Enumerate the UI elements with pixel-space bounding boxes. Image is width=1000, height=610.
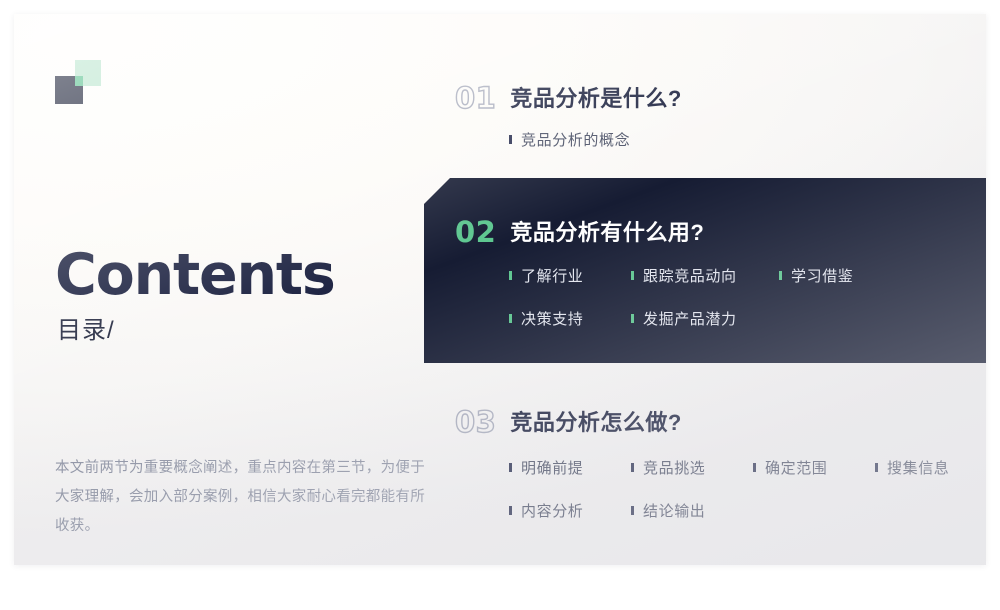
section-03-header: 03 竞品分析怎么做? — [455, 408, 986, 437]
list-item-label: 跟踪竞品动向 — [643, 265, 737, 286]
list-item[interactable]: 了解行业 — [509, 265, 631, 286]
list-item-label: 了解行业 — [521, 265, 583, 286]
list-item[interactable]: 学习借鉴 — [779, 265, 901, 286]
list-item[interactable]: 竞品挑选 — [631, 457, 753, 478]
section-02-bullets: 了解行业 跟踪竞品动向 学习借鉴 — [455, 265, 986, 351]
bullet-marker-icon — [631, 506, 634, 515]
bullet-marker-icon — [509, 314, 512, 323]
section-02-title: 竞品分析有什么用? — [510, 222, 704, 244]
list-item-label: 确定范围 — [765, 457, 827, 478]
slide: Contents 目录/ 本文前两节为重要概念阐述，重点内容在第三节，为便于大家… — [14, 14, 986, 565]
list-item-label: 内容分析 — [521, 500, 583, 521]
slide-canvas: Contents 目录/ 本文前两节为重要概念阐述，重点内容在第三节，为便于大家… — [0, 0, 1000, 610]
bullet-marker-icon — [631, 271, 634, 280]
list-item[interactable]: 发掘产品潜力 — [631, 308, 779, 329]
section-01-header: 01 竞品分析是什么? — [455, 84, 986, 113]
list-item-label: 发掘产品潜力 — [643, 308, 737, 329]
bullet-marker-icon — [509, 135, 512, 144]
list-item[interactable]: 搜集信息 — [875, 457, 986, 478]
bullet-marker-icon — [753, 463, 756, 472]
list-item-label: 竞品分析的概念 — [521, 129, 630, 150]
sections-list: 01 竞品分析是什么? 竞品分析的概念 02 竞品分析有什么用? — [410, 14, 986, 565]
page-subtitle: 目录/ — [57, 314, 425, 348]
list-item-label: 明确前提 — [521, 457, 583, 478]
bullet-marker-icon — [509, 506, 512, 515]
section-02-content: 02 竞品分析有什么用? 了解行业 跟踪竞品动向 — [455, 218, 986, 351]
list-item-label: 决策支持 — [521, 308, 583, 329]
bullet-marker-icon — [631, 314, 634, 323]
list-item[interactable]: 确定范围 — [753, 457, 875, 478]
list-item[interactable]: 结论输出 — [631, 500, 753, 521]
section-03-title: 竞品分析怎么做? — [510, 412, 681, 434]
section-01[interactable]: 01 竞品分析是什么? 竞品分析的概念 — [410, 84, 986, 150]
bullet-marker-icon — [631, 463, 634, 472]
section-02-number: 02 — [455, 218, 496, 247]
bullet-marker-icon — [509, 271, 512, 280]
list-item[interactable]: 决策支持 — [509, 308, 631, 329]
list-item-label: 竞品挑选 — [643, 457, 705, 478]
section-02-header: 02 竞品分析有什么用? — [455, 218, 986, 247]
section-03-bullets: 明确前提 竞品挑选 确定范围 搜集信息 — [455, 457, 986, 543]
brand-logo — [55, 60, 103, 104]
list-item[interactable]: 明确前提 — [509, 457, 631, 478]
list-item-label: 结论输出 — [643, 500, 705, 521]
lead-paragraph: 本文前两节为重要概念阐述，重点内容在第三节，为便于大家理解，会加入部分案例，相信… — [55, 454, 430, 541]
page-title: Contents — [55, 246, 425, 306]
section-01-number: 01 — [455, 84, 496, 113]
list-item[interactable]: 跟踪竞品动向 — [631, 265, 779, 286]
section-02-card[interactable]: 02 竞品分析有什么用? 了解行业 跟踪竞品动向 — [424, 178, 986, 363]
list-item-label: 搜集信息 — [887, 457, 949, 478]
section-03[interactable]: 03 竞品分析怎么做? 明确前提 竞品挑选 确定范围 — [410, 408, 986, 543]
logo-square-overlap — [75, 76, 83, 86]
section-03-number: 03 — [455, 408, 496, 437]
bullet-marker-icon — [875, 463, 878, 472]
bullet-marker-icon — [509, 463, 512, 472]
list-item-label: 学习借鉴 — [791, 265, 853, 286]
list-item[interactable]: 竞品分析的概念 — [509, 129, 630, 150]
title-block: Contents 目录/ — [55, 246, 425, 347]
list-item[interactable]: 内容分析 — [509, 500, 631, 521]
bullet-marker-icon — [779, 271, 782, 280]
section-02[interactable]: 02 竞品分析有什么用? 了解行业 跟踪竞品动向 — [424, 178, 986, 363]
section-01-title: 竞品分析是什么? — [510, 88, 681, 110]
section-01-bullets: 竞品分析的概念 — [455, 129, 986, 150]
